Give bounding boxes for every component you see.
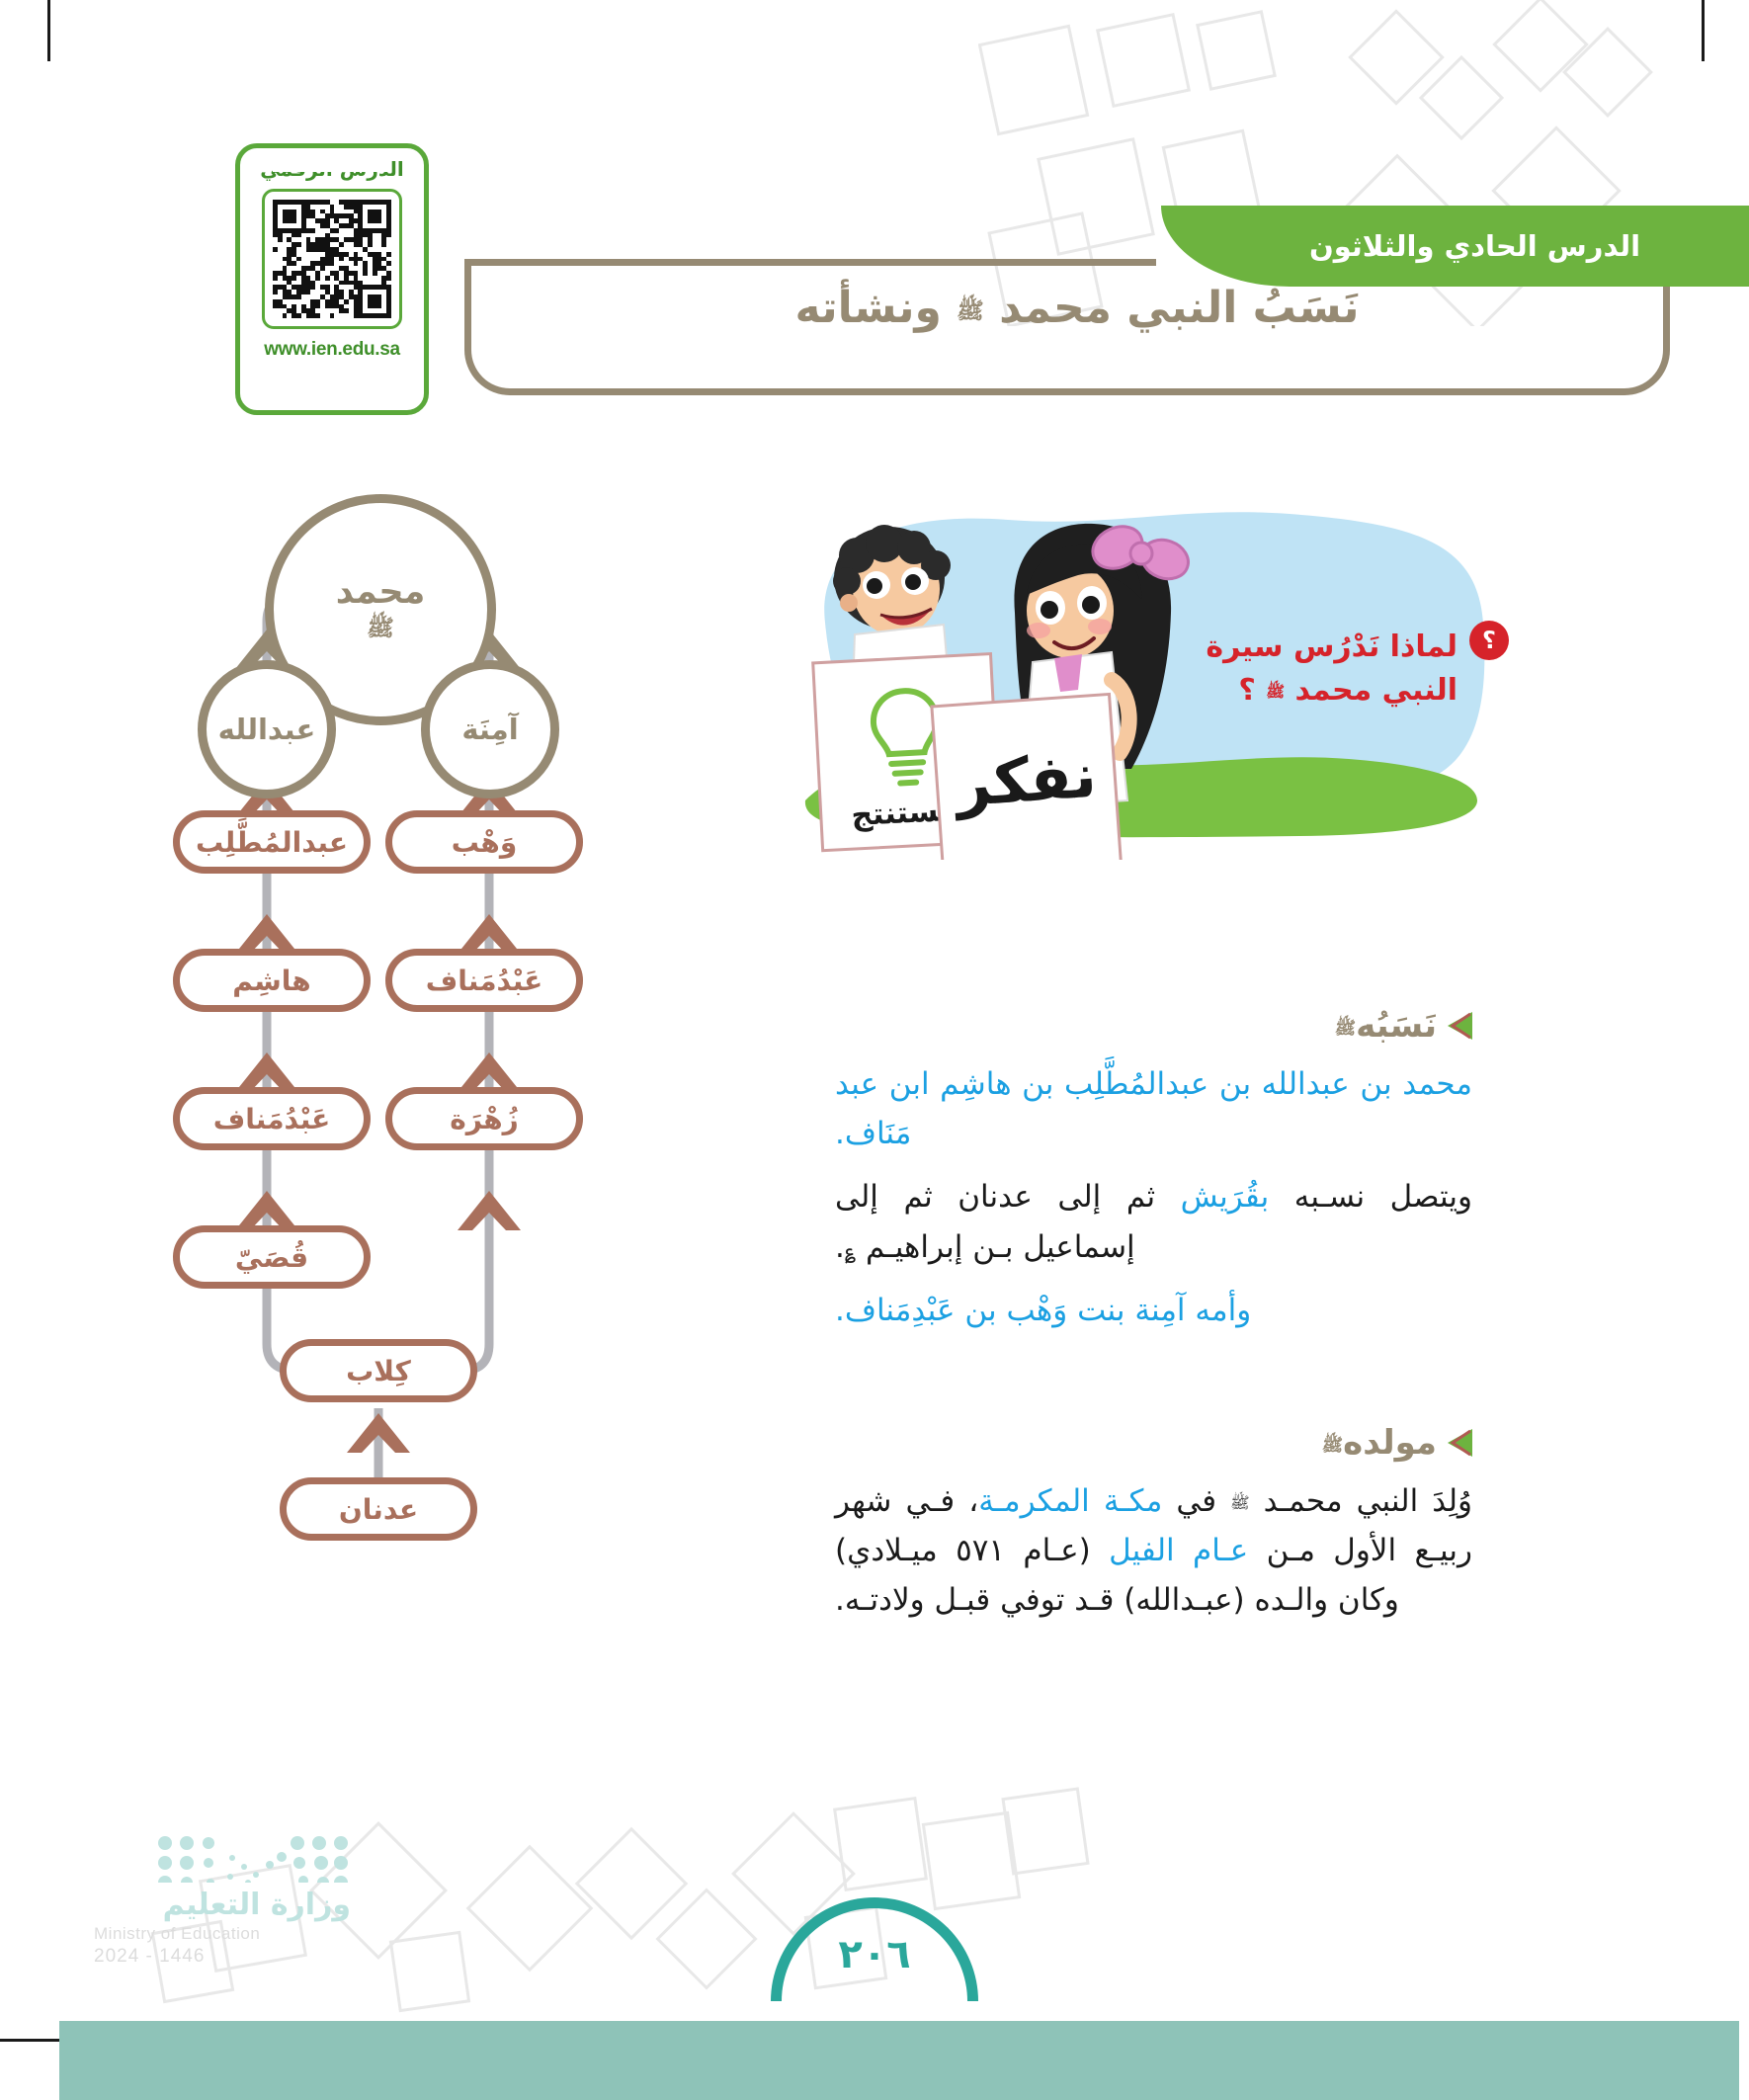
activity-question: لماذا نَدْرُس سيرة النبي محمد ﷺ ؟ [1186,626,1457,712]
section-nasab-paragraph-3: وأمه آمِنة بنت وَهْب بن عَبْدِمَناف. [835,1286,1472,1335]
section-mawlid-paragraph-1: وُلِدَ النبي محمـد ﷺ في مكـة المكرمـة، ف… [835,1476,1472,1626]
page-title-suffix: ونشأته [794,283,941,333]
activity-illustration-panel: ونستنتج [786,504,1497,860]
ministry-name-en: Ministry of Education [94,1924,351,1944]
girl-sign-label: نفكر [951,739,1099,821]
ministry-name-ar: وزارة التعليم [94,1888,351,1922]
page-title-prefix: نَسَبُ النبي محمد [999,283,1359,333]
section-mawlid-title: مولدهﷺ [1322,1423,1437,1463]
ministry-year: 2024 - 1446 [94,1946,351,1968]
digital-lesson-card[interactable]: الدرس الرقمي www.ien.edu.sa [235,143,429,415]
tree-node-wahb: وَهْب [385,810,583,874]
question-badge-icon: ؟ [1469,621,1509,660]
tree-circle-muhammad-label: محمد [336,572,426,612]
crop-mark-top-left-v [47,0,50,61]
section-nasab-header: نَسَبُهﷺ [835,1006,1472,1046]
section-mawlid-header: مولدهﷺ [835,1423,1472,1463]
tree-node-abdumanaf-maternal: عَبْدُمَناف [385,949,583,1012]
section-nasab-paragraph-2: ويتصل نسـبه بقُرَيش ثم إلى عدنان ثم إلى … [835,1172,1472,1271]
green-chevron-bullet-icon [1447,1011,1472,1041]
tree-circle-abdullah: عبدالله [198,660,336,798]
green-chevron-bullet-icon-2 [1447,1428,1472,1458]
crop-mark-top-right-v [1702,0,1705,61]
alayhi-salam-glyph: ؏ [845,1239,856,1262]
qr-card-tab-notch [273,158,391,172]
page-title: نَسَبُ النبي محمد ﷺ ونشأته [524,283,1630,333]
tree-node-qusayy: قُصَيّ [173,1225,371,1289]
qr-code-icon[interactable] [262,189,402,329]
section-nasab-title: نَسَبُهﷺ [1335,1006,1437,1046]
activity-question-line1: لماذا نَدْرُس سيرة [1206,630,1457,664]
salawat-glyph-tree: ﷺ [367,614,394,647]
section-mawlid: مولدهﷺ وُلِدَ النبي محمـد ﷺ في مكـة المك… [835,1423,1472,1626]
genealogy-tree: محمد ﷺ عبدالله آمِنَة عبدالمُطَّلِب هاشِ… [173,519,588,1764]
activity-question-mark: ؟ [1238,673,1255,708]
tree-circle-aminah: آمِنَة [421,660,559,798]
salawat-glyph-nasab: ﷺ [1335,1019,1356,1039]
ministry-logo: وزارة التعليم Ministry of Education 2024… [94,1833,351,1991]
textbook-page: الدرس الحادي والثلاثون نَسَبُ النبي محمد… [0,0,1749,2100]
lesson-banner: الدرس الحادي والثلاثون [1161,206,1749,287]
section-nasab-paragraph-1: محمد بن عبدالله بن عبدالمُطَّلِب بن هاشِ… [835,1059,1472,1158]
page-number: ٢٠٦ [771,1932,978,1977]
salawat-glyph: ﷺ [957,298,984,324]
footer-bar [59,2021,1739,2100]
tree-node-abdulmuttalib: عبدالمُطَّلِب [173,810,371,874]
moe-dots-icon [153,1833,351,1883]
salawat-glyph-question: ﷺ [1266,683,1285,701]
tree-circle-aminah-label: آمِنَة [461,713,518,746]
salawat-glyph-mawlid: ﷺ [1322,1436,1343,1456]
activity-question-line2: النبي محمد [1295,673,1457,708]
section-nasab: نَسَبُهﷺ محمد بن عبدالله بن عبدالمُطَّلِ… [835,1006,1472,1335]
lesson-banner-label: الدرس الحادي والثلاثون [1309,229,1640,263]
tree-node-hashim: هاشِم [173,949,371,1012]
tree-node-adnan: عدنان [280,1477,477,1541]
salawat-glyph-body: ﷺ [1230,1493,1249,1512]
tree-node-kilab: كِلاب [280,1339,477,1402]
tree-node-abdumanaf-paternal: عَبْدُمَناف [173,1087,371,1150]
digital-lesson-url[interactable]: www.ien.edu.sa [264,339,400,361]
tree-node-zuhrah: زُهْرَة [385,1087,583,1150]
tree-circle-abdullah-label: عبدالله [218,713,316,746]
